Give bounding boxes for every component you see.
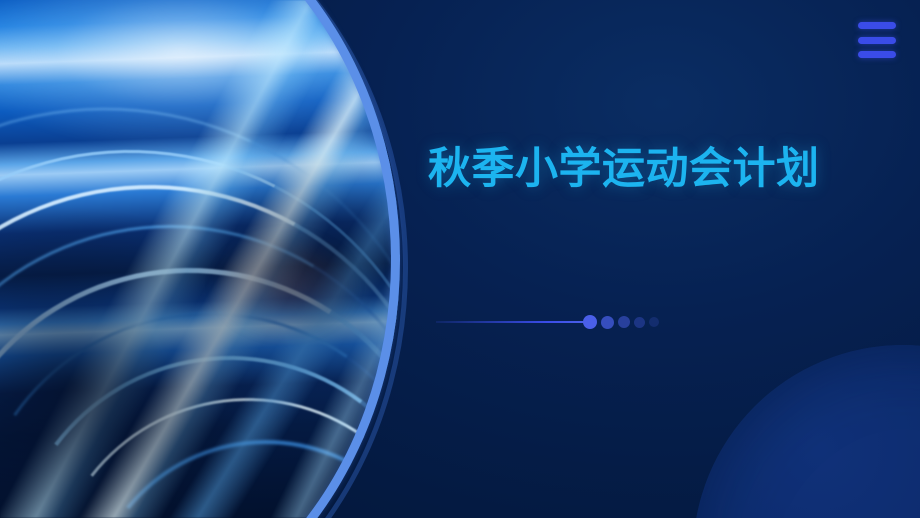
menu-bar-middle — [858, 37, 896, 44]
decorator-dot-2 — [601, 316, 614, 329]
menu-bar-top — [858, 22, 896, 29]
decorator-dot-1 — [583, 315, 597, 329]
hamburger-menu-icon[interactable] — [858, 22, 898, 58]
title-slide: 秋季小学运动会计划 — [0, 0, 920, 518]
slide-title: 秋季小学运动会计划 — [428, 139, 848, 200]
decorator-line — [436, 321, 584, 323]
menu-bar-bottom — [858, 51, 896, 58]
decorator-dot-5 — [649, 317, 659, 327]
title-decorator — [436, 314, 676, 330]
decorator-dot-4 — [634, 317, 645, 328]
decorator-dot-3 — [618, 316, 630, 328]
decorator-dots — [583, 315, 659, 329]
arc-ring-highlight — [0, 0, 400, 518]
